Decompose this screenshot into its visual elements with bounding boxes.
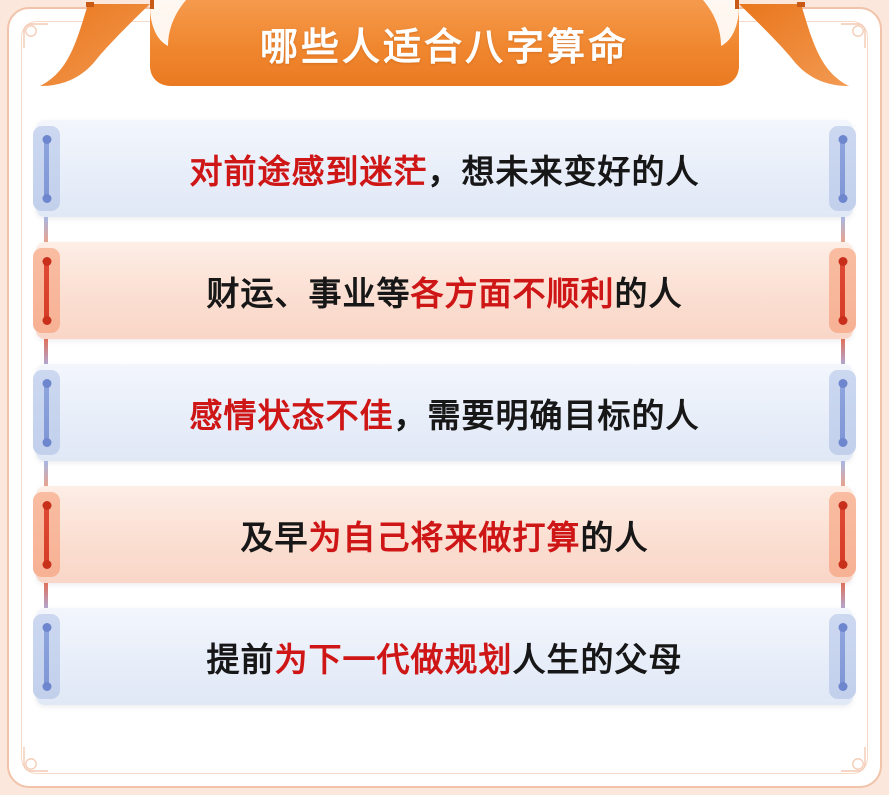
pin-tab-icon <box>829 126 856 211</box>
row-gap <box>36 217 853 242</box>
pin-tab-icon <box>829 492 856 577</box>
reason-card[interactable]: 对前途感到迷茫，想未来变好的人 <box>36 120 853 217</box>
reason-card[interactable]: 提前为下一代做规划人生的父母 <box>36 608 853 705</box>
row-gap <box>36 583 853 608</box>
pin-tab-icon <box>33 248 60 333</box>
reason-text: 提前为下一代做规划人生的父母 <box>207 633 683 681</box>
normal-text: ，想未来变好的人 <box>428 153 700 190</box>
card-connector-line <box>44 461 48 486</box>
pin-tab-icon <box>33 492 60 577</box>
reason-text: 对前途感到迷茫，想未来变好的人 <box>190 145 700 193</box>
normal-text: ，需要明确目标的人 <box>394 397 700 434</box>
pin-tab-icon <box>33 614 60 699</box>
pin-bar-icon <box>44 261 49 321</box>
card-connector-line <box>841 339 845 364</box>
pin-bar-icon <box>44 139 49 199</box>
pin-bar-icon <box>840 627 845 687</box>
list-item[interactable]: 及早为自己将来做打算的人 <box>36 486 853 608</box>
reason-list: 对前途感到迷茫，想未来变好的人财运、事业等各方面不顺利的人感情状态不佳，需要明确… <box>36 120 853 705</box>
pin-bar-icon <box>840 261 845 321</box>
normal-text: 人生的父母 <box>513 641 683 678</box>
card-connector-line <box>841 583 845 608</box>
highlight-text: 各方面不顺利 <box>411 275 615 312</box>
pin-bar-icon <box>44 505 49 565</box>
pin-bar-icon <box>840 139 845 199</box>
normal-text: 的人 <box>615 275 683 312</box>
card-connector-line <box>841 217 845 242</box>
highlight-text: 感情状态不佳 <box>190 397 394 434</box>
reason-card[interactable]: 感情状态不佳，需要明确目标的人 <box>36 364 853 461</box>
pin-tab-icon <box>33 126 60 211</box>
list-item[interactable]: 感情状态不佳，需要明确目标的人 <box>36 364 853 486</box>
reason-text: 及早为自己将来做打算的人 <box>241 511 649 559</box>
list-item[interactable]: 提前为下一代做规划人生的父母 <box>36 608 853 705</box>
pin-bar-icon <box>44 627 49 687</box>
page-title: 哪些人适合八字算命 <box>0 0 889 86</box>
list-item[interactable]: 对前途感到迷茫，想未来变好的人 <box>36 120 853 242</box>
reason-text: 财运、事业等各方面不顺利的人 <box>207 267 683 315</box>
pin-tab-icon <box>829 614 856 699</box>
card-connector-line <box>44 217 48 242</box>
reason-card[interactable]: 财运、事业等各方面不顺利的人 <box>36 242 853 339</box>
pin-bar-icon <box>840 383 845 443</box>
pin-bar-icon <box>840 505 845 565</box>
normal-text: 及早 <box>241 519 309 556</box>
corner-curl-icon <box>23 746 49 772</box>
pin-tab-icon <box>829 248 856 333</box>
corner-curl-icon <box>840 746 866 772</box>
card-connector-line <box>841 461 845 486</box>
highlight-text: 为下一代做规划 <box>275 641 513 678</box>
reason-card[interactable]: 及早为自己将来做打算的人 <box>36 486 853 583</box>
reason-text: 感情状态不佳，需要明确目标的人 <box>190 389 700 437</box>
list-item[interactable]: 财运、事业等各方面不顺利的人 <box>36 242 853 364</box>
highlight-text: 为自己将来做打算 <box>309 519 581 556</box>
row-gap <box>36 461 853 486</box>
card-connector-line <box>44 339 48 364</box>
normal-text: 的人 <box>581 519 649 556</box>
normal-text: 财运、事业等 <box>207 275 411 312</box>
pin-tab-icon <box>33 370 60 455</box>
highlight-text: 对前途感到迷茫 <box>190 153 428 190</box>
pin-bar-icon <box>44 383 49 443</box>
card-connector-line <box>44 583 48 608</box>
row-gap <box>36 339 853 364</box>
pin-tab-icon <box>829 370 856 455</box>
normal-text: 提前 <box>207 641 275 678</box>
